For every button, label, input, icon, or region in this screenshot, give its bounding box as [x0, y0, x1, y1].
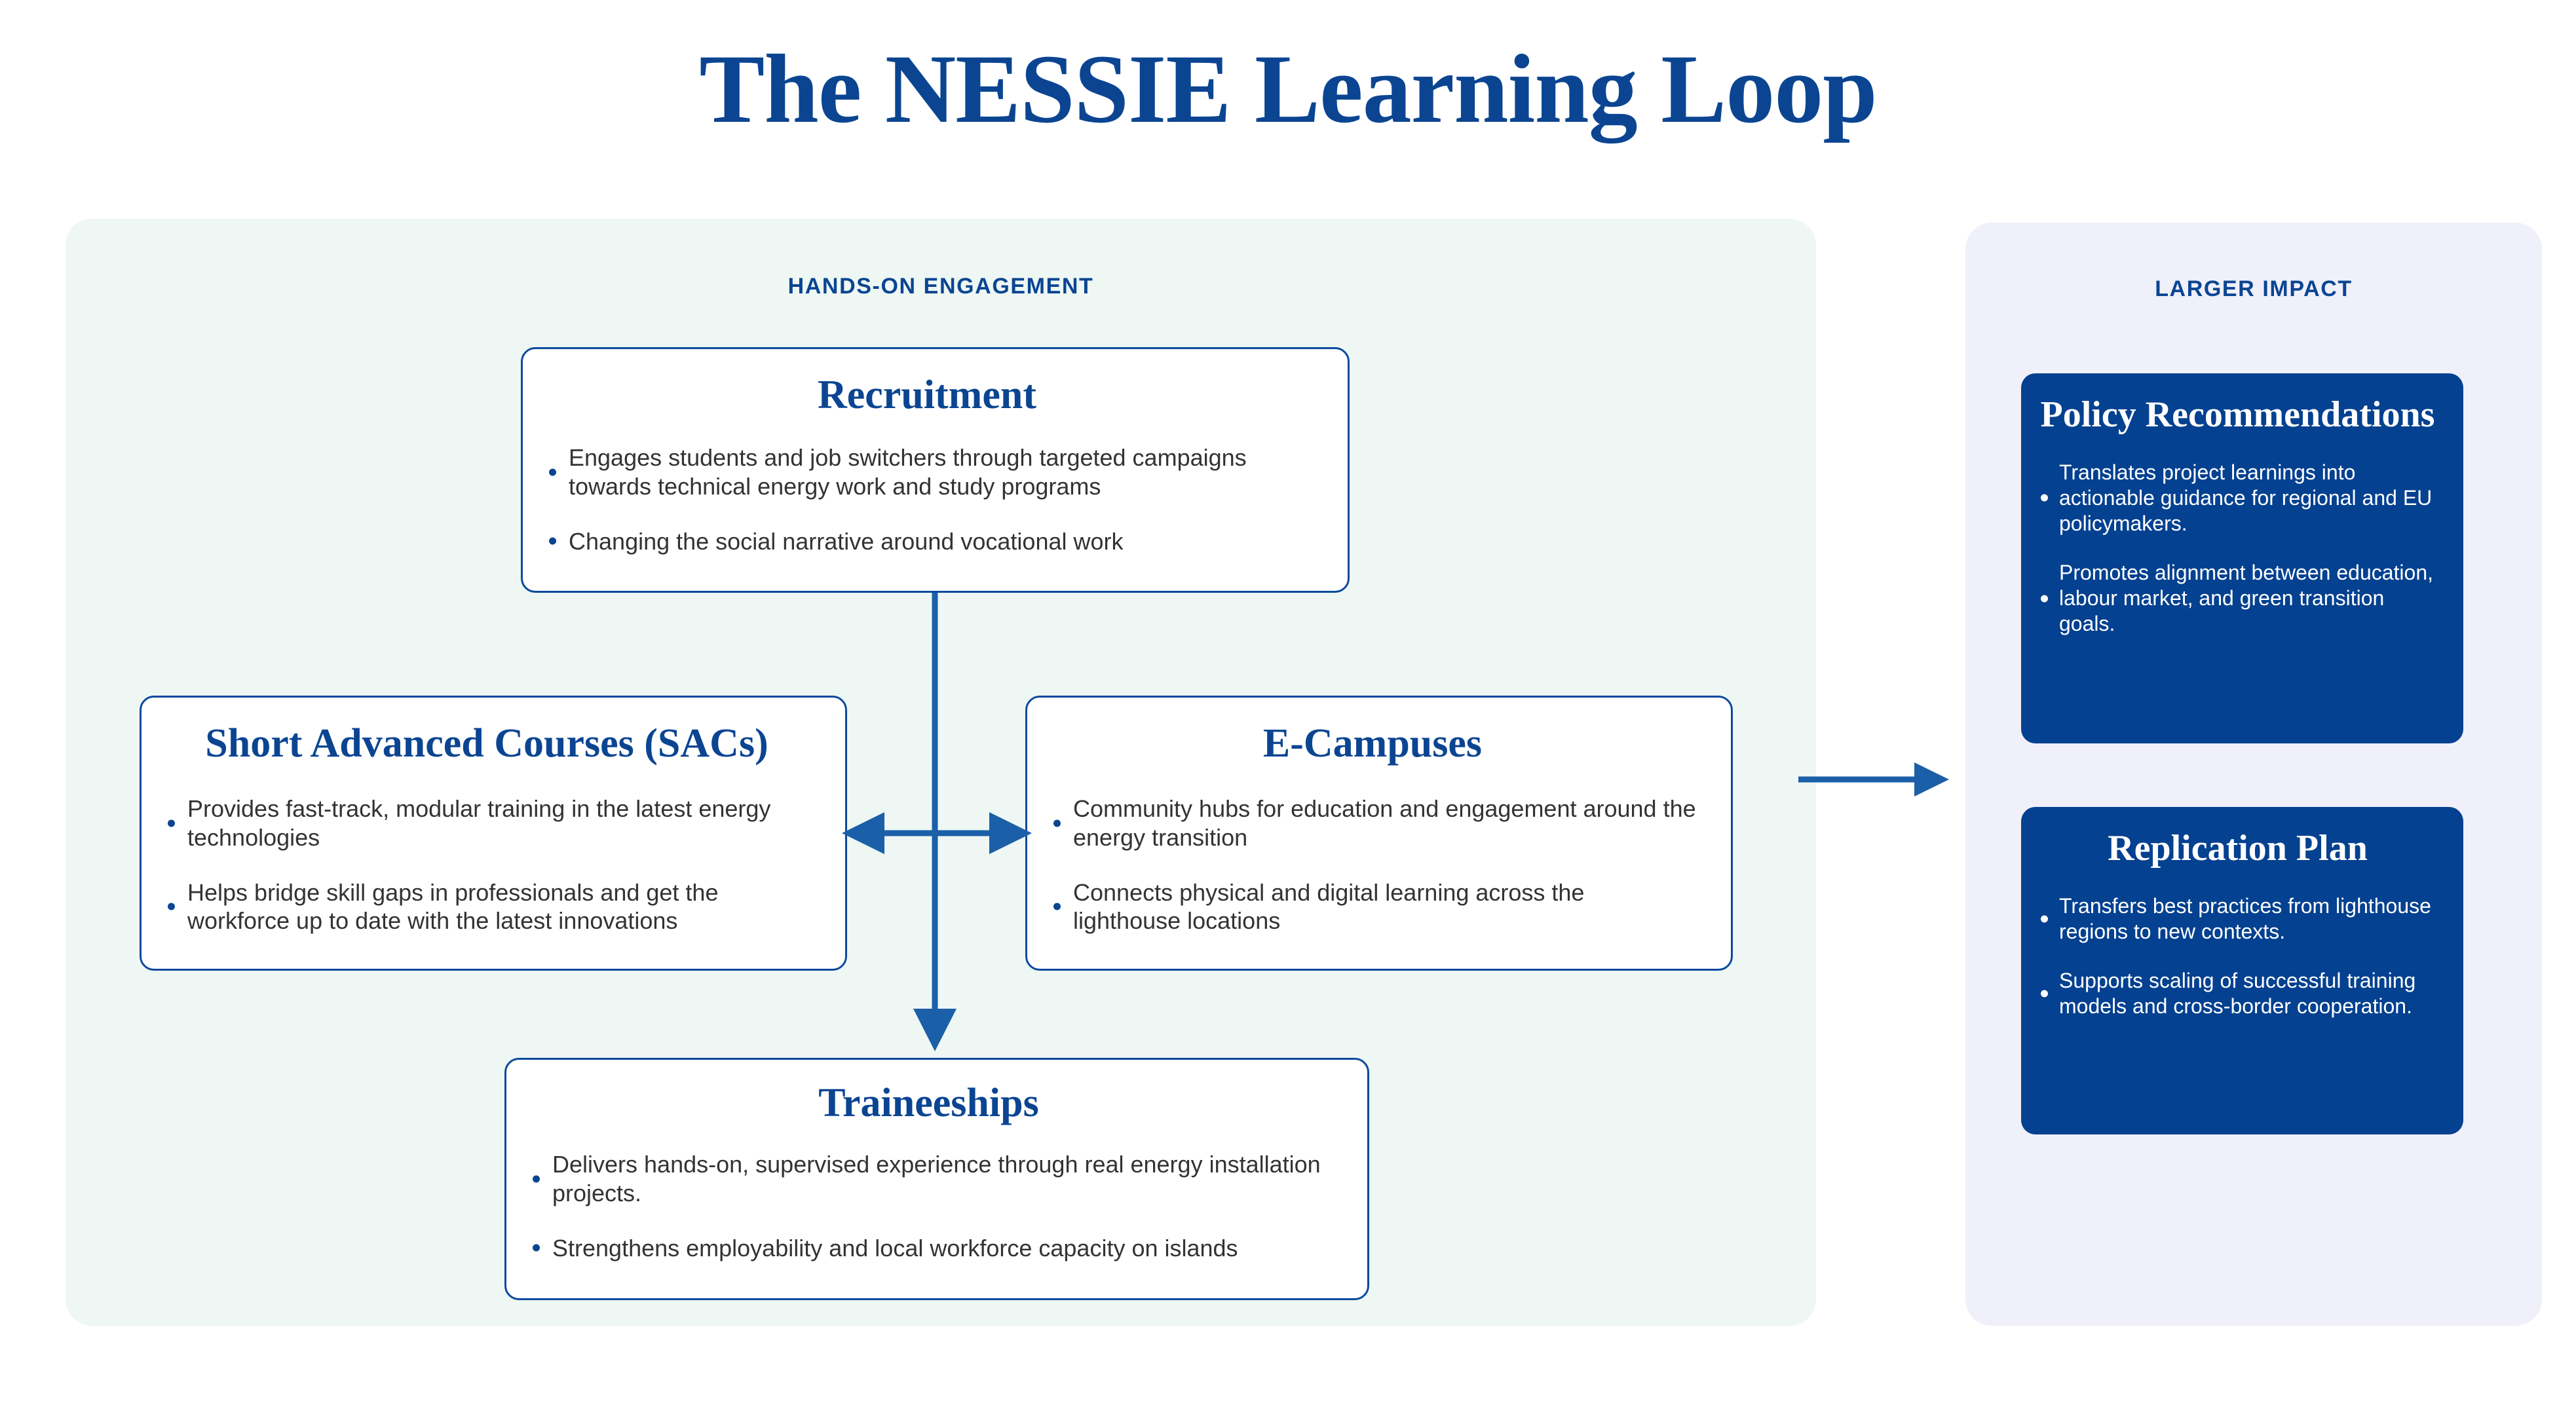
card-short-advanced-courses[interactable]: Short Advanced Courses (SACs) Provides f… [140, 696, 847, 971]
list-item: Changing the social narrative around voc… [542, 527, 1312, 556]
list-item: Community hubs for education and engagem… [1047, 795, 1698, 852]
card-title-replication-plan: Replication Plan [2034, 829, 2441, 869]
panel-label-larger-impact: LARGER IMPACT [1965, 276, 2542, 302]
list-item: Provides fast-track, modular training in… [161, 795, 812, 852]
card-policy-recommendations[interactable]: Policy Recommendations Translates projec… [2021, 373, 2463, 743]
list-item: Transfers best practices from lighthouse… [2034, 893, 2441, 945]
card-title-e-campuses: E-Campuses [1047, 722, 1698, 766]
card-title-traineeships: Traineeships [526, 1082, 1331, 1125]
page-title: The NESSIE Learning Loop [0, 38, 2576, 141]
card-title-short-advanced-courses: Short Advanced Courses (SACs) [161, 722, 812, 766]
bullet-list-e-campuses: Community hubs for education and engagem… [1047, 795, 1698, 936]
card-title-policy-recommendations: Policy Recommendations [2034, 396, 2441, 435]
card-title-recruitment: Recruitment [542, 374, 1312, 417]
card-recruitment[interactable]: Recruitment Engages students and job swi… [521, 347, 1350, 593]
list-item: Strengthens employability and local work… [526, 1234, 1331, 1263]
arrow-engagement-to-impact [1798, 762, 1949, 796]
card-traineeships[interactable]: Traineeships Delivers hands-on, supervis… [504, 1058, 1369, 1300]
card-e-campuses[interactable]: E-Campuses Community hubs for education … [1025, 696, 1733, 971]
list-item: Supports scaling of successful training … [2034, 968, 2441, 1019]
bullet-list-recruitment: Engages students and job switchers throu… [542, 443, 1312, 556]
card-replication-plan[interactable]: Replication Plan Transfers best practice… [2021, 807, 2463, 1134]
bullet-list-policy-recommendations: Translates project learnings into action… [2034, 460, 2441, 637]
list-item: Connects physical and digital learning a… [1047, 878, 1698, 936]
bullet-list-replication-plan: Transfers best practices from lighthouse… [2034, 893, 2441, 1019]
panel-label-hands-on-engagement: HANDS-ON ENGAGEMENT [66, 274, 1816, 299]
list-item: Engages students and job switchers throu… [542, 443, 1312, 501]
list-item: Delivers hands-on, supervised experience… [526, 1150, 1331, 1208]
bullet-list-traineeships: Delivers hands-on, supervised experience… [526, 1150, 1331, 1263]
bullet-list-short-advanced-courses: Provides fast-track, modular training in… [161, 795, 812, 936]
list-item: Translates project learnings into action… [2034, 460, 2441, 536]
list-item: Helps bridge skill gaps in professionals… [161, 878, 812, 936]
list-item: Promotes alignment between education, la… [2034, 560, 2441, 637]
